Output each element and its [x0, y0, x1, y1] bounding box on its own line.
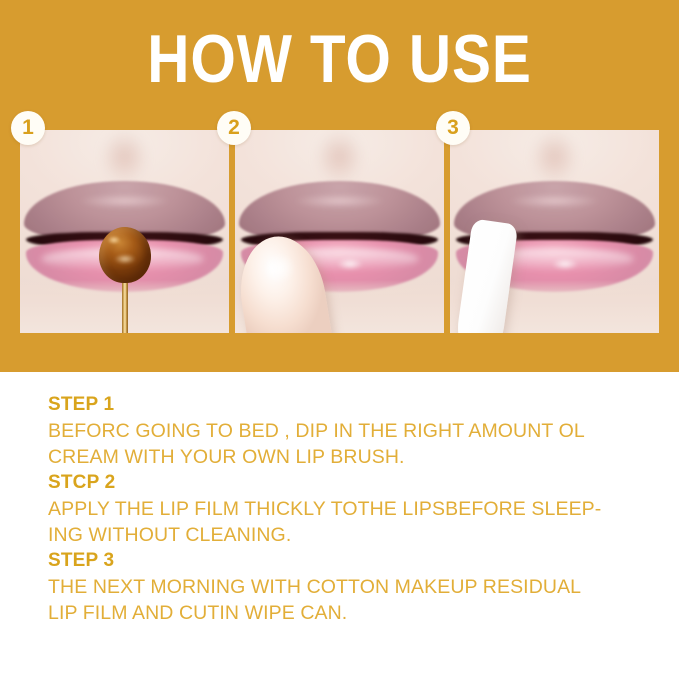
- step-photo-3: [450, 130, 659, 333]
- instruction-step-2: STCP 2 APPLY THE LIP FILM THICKLY TOTHE …: [48, 470, 648, 548]
- step-3-heading: STEP 3: [48, 548, 648, 574]
- step-2-body: APPLY THE LIP FILM THICKLY TOTHE LIPSBEF…: [48, 496, 648, 548]
- instruction-step-3: STEP 3 THE NEXT MORNING WITH COTTON MAKE…: [48, 548, 648, 626]
- instruction-step-1: STEP 1 BEFORC GOING TO BED , DIP IN THE …: [48, 392, 648, 470]
- lower-lip-highlight: [331, 256, 369, 272]
- how-to-use-poster: HOW TO USE: [0, 0, 679, 679]
- step-3-body: THE NEXT MORNING WITH COTTON MAKEUP RESI…: [48, 574, 648, 626]
- step-2-heading: STCP 2: [48, 470, 648, 496]
- fingertip-highlight: [258, 248, 300, 289]
- page-title: HOW TO USE: [48, 24, 632, 94]
- photo-strip: [20, 130, 659, 333]
- step-badge-2: 2: [217, 111, 251, 145]
- step-1-heading: STEP 1: [48, 392, 648, 418]
- applicator-wand-highlight: [105, 234, 123, 246]
- applicator-wand-lower-highlight: [110, 252, 140, 266]
- step-1-body: BEFORC GOING TO BED , DIP IN THE RIGHT A…: [48, 418, 648, 470]
- step-badge-1: 1: [11, 111, 45, 145]
- lower-lip-highlight: [546, 256, 584, 272]
- step-photo-2: [235, 130, 444, 333]
- step-photo-1: [20, 130, 229, 333]
- instructions: STEP 1 BEFORC GOING TO BED , DIP IN THE …: [48, 392, 648, 626]
- step-badge-3: 3: [436, 111, 470, 145]
